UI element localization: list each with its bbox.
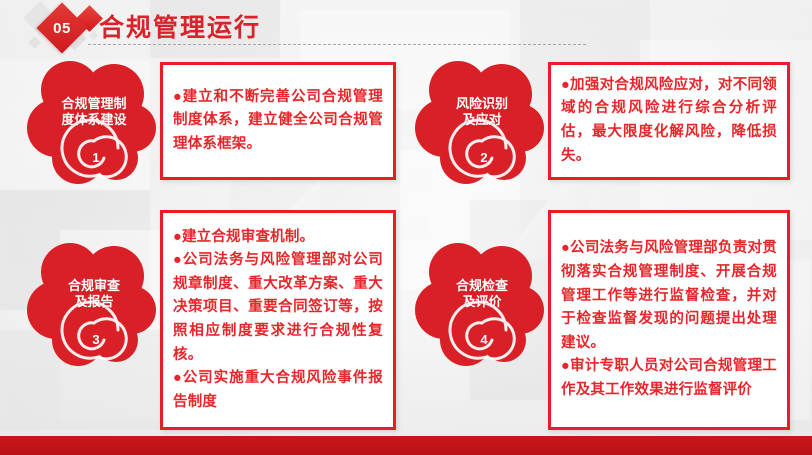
cloud-number-4: 4 [416, 332, 552, 347]
content-box-4: ●公司法务与风险管理部负责对贯彻落实合规管理制度、开展合规管理工作等进行监督检查… [548, 210, 790, 430]
content-line: ●加强对合规风险应对，对不同领域的合规风险进行综合分析评估，最大限度化解风险，降… [561, 74, 777, 169]
diamond-decoration-icon [28, 36, 41, 49]
cloud-label-1: 合规管理制 度体系建设 [26, 96, 162, 129]
diamond-decoration-icon [89, 31, 99, 41]
content-box-3-body: ●建立合规审查机制。 ●公司法务与风险管理部对公司规章制度、重大改革方案、重大决… [163, 226, 393, 415]
footer-bar [0, 436, 812, 455]
section-badge: 05 [18, 2, 110, 56]
slide-canvas: 05 合规管理运行 合规管理制 度体系建设 1 ●建立和不断完善公司合规管理制度 [0, 0, 812, 455]
cloud-badge-2: 风险识别 及应对 2 [414, 58, 550, 186]
content-line: ●公司法务与风险管理部负责对贯彻落实合规管理制度、开展合规管理工作等进行监督检查… [561, 237, 777, 355]
content-line: ●公司法务与风险管理部对公司规章制度、重大改革方案、重大决策项目、重要合同签订等… [173, 249, 383, 367]
cloud-badge-3: 合规审查 及报告 3 [26, 240, 162, 368]
section-number: 05 [44, 10, 80, 46]
content-box-2-body: ●加强对合规风险应对，对不同领域的合规风险进行综合分析评估，最大限度化解风险，降… [551, 74, 787, 169]
cloud-label-2: 风险识别 及应对 [414, 96, 550, 129]
header-divider [88, 44, 586, 45]
content-line: ●建立合规审查机制。 [173, 226, 383, 250]
cloud-number-2: 2 [416, 150, 552, 165]
cloud-number-3: 3 [28, 332, 164, 347]
content-box-1: ●建立和不断完善公司合规管理制度体系，建立健全公司合规管理体系框架。 [160, 62, 396, 180]
cloud-label-4: 合规检查 及评价 [414, 278, 550, 311]
slide-header: 05 合规管理运行 [0, 0, 812, 58]
cloud-label-3: 合规审查 及报告 [26, 278, 162, 311]
cloud-badge-1: 合规管理制 度体系建设 1 [26, 58, 162, 186]
cloud-badge-4: 合规检查 及评价 4 [414, 240, 550, 368]
page-title: 合规管理运行 [99, 8, 261, 44]
content-box-3: ●建立合规审查机制。 ●公司法务与风险管理部对公司规章制度、重大改革方案、重大决… [160, 210, 396, 430]
content-box-4-body: ●公司法务与风险管理部负责对贯彻落实合规管理制度、开展合规管理工作等进行监督检查… [551, 237, 787, 402]
content-box-1-body: ●建立和不断完善公司合规管理制度体系，建立健全公司合规管理体系框架。 [163, 86, 393, 157]
content-line: ●公司实施重大合规风险事件报告制度 [173, 367, 383, 414]
content-line: ●建立和不断完善公司合规管理制度体系，建立健全公司合规管理体系框架。 [173, 86, 383, 157]
content-box-2: ●加强对合规风险应对，对不同领域的合规风险进行综合分析评估，最大限度化解风险，降… [548, 62, 790, 180]
content-line: ●审计专职人员对公司合规管理工作及其工作效果进行监督评价 [561, 355, 777, 402]
cloud-number-1: 1 [28, 150, 164, 165]
